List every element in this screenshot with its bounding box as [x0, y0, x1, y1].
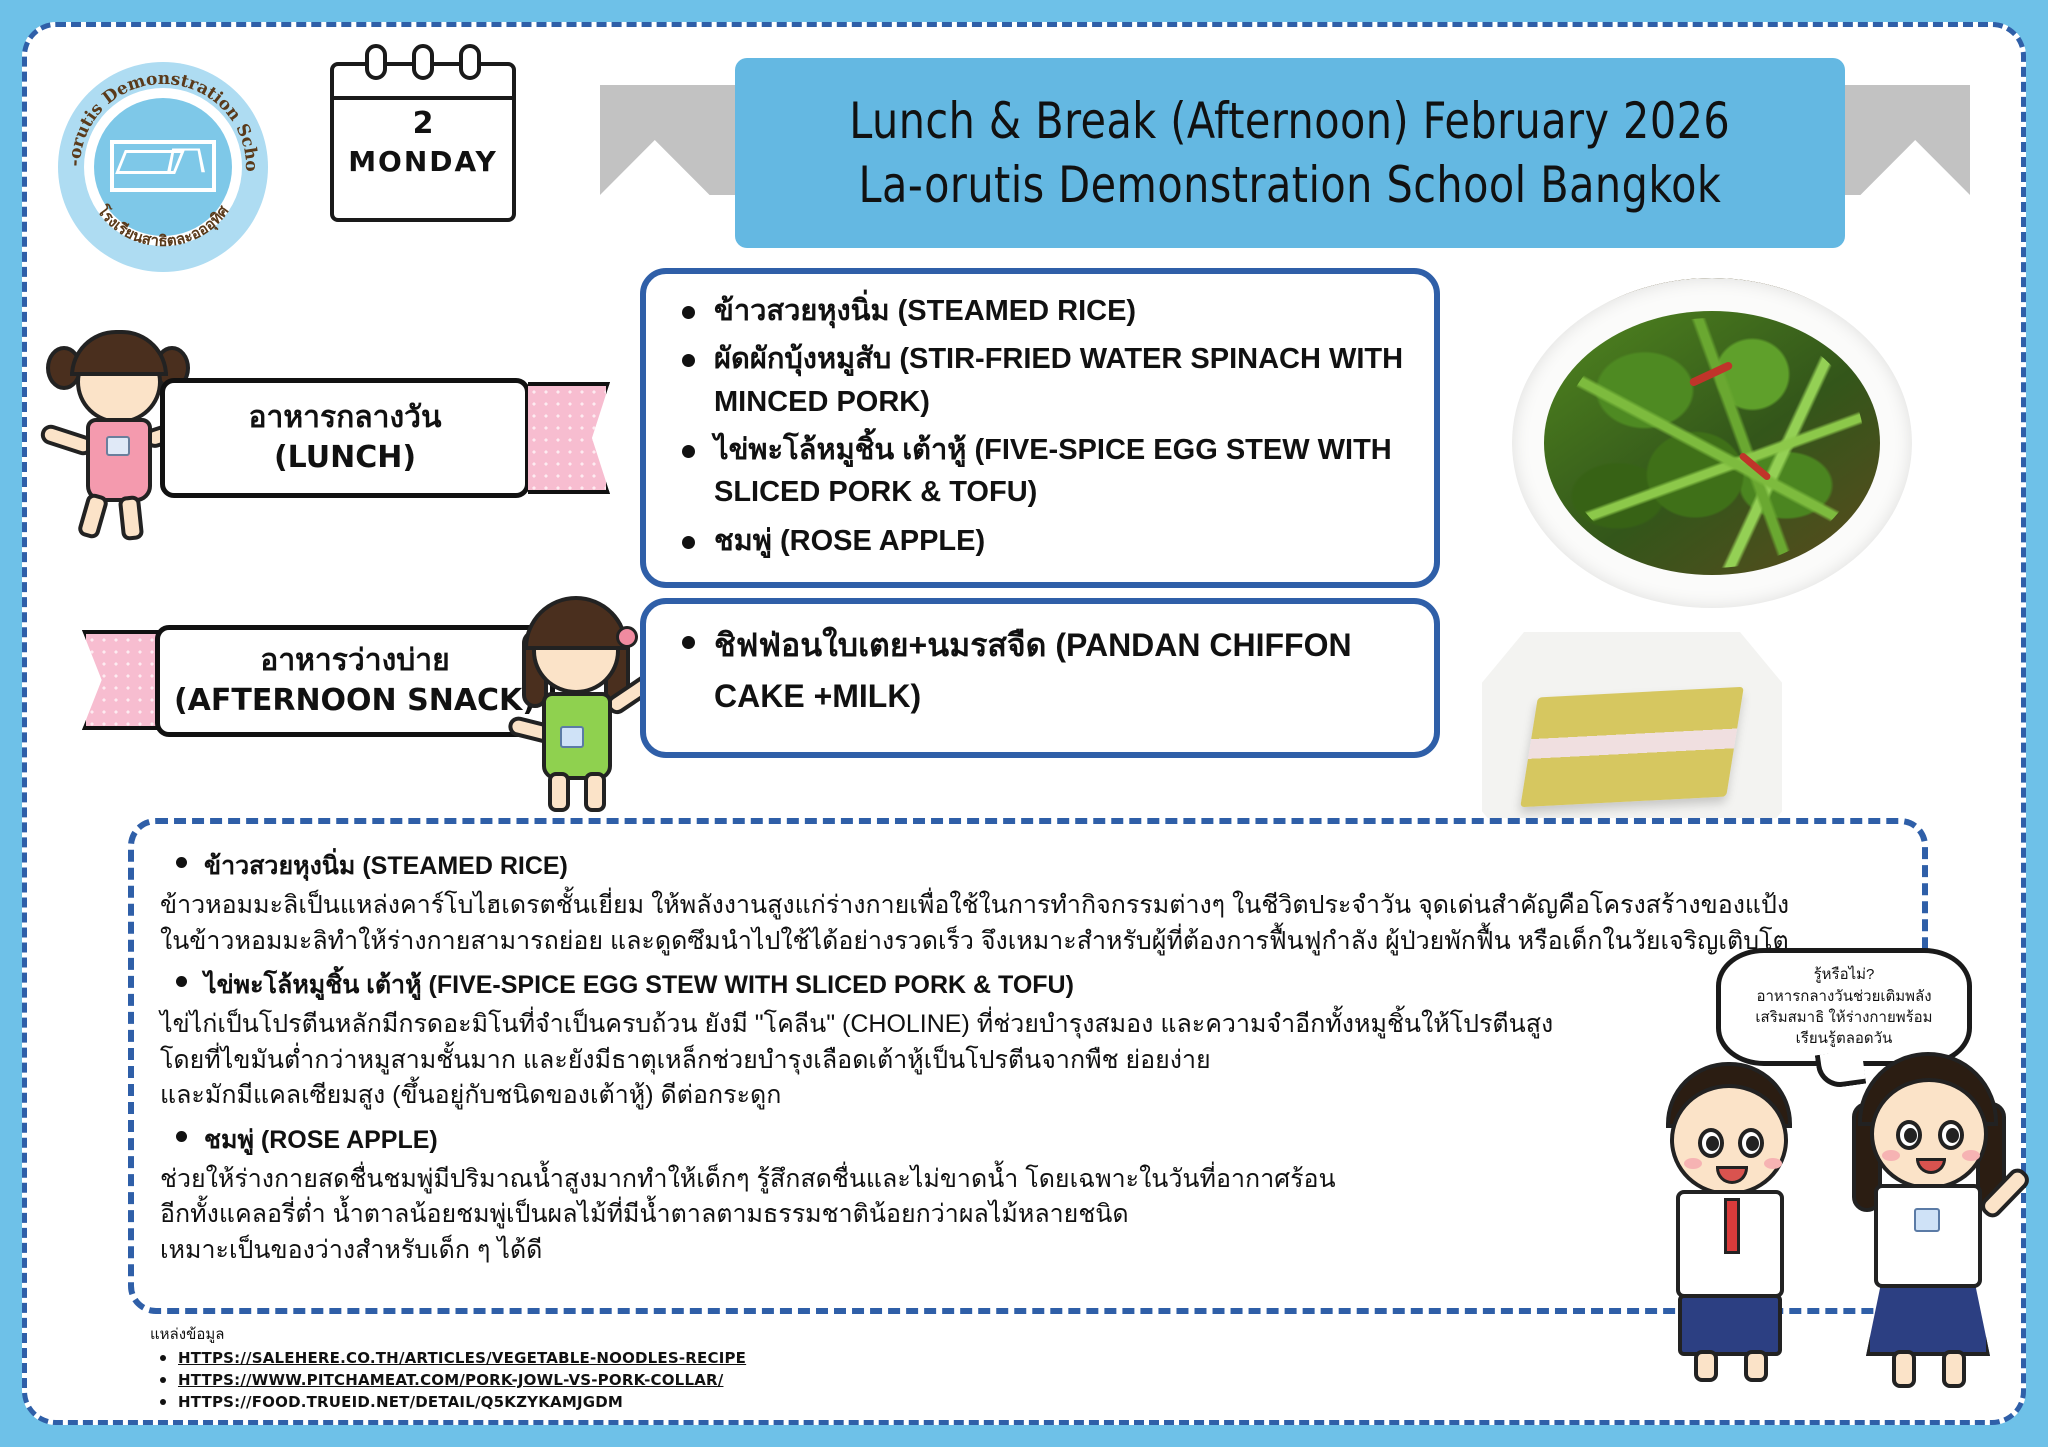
logo-arc-text: La-orutis Demonstration School โรงเรียนส…: [58, 62, 268, 272]
nutrition-heading: ไข่พะโล้หมูชิ้น เต้าหู้ (FIVE-SPICE EGG …: [160, 965, 1896, 1005]
character-pupil-left: [1706, 1136, 1719, 1151]
character-leg-left: [1892, 1350, 1916, 1388]
character-blouse: [1874, 1184, 1982, 1288]
character-shorts: [1678, 1294, 1782, 1356]
lunch-menu-item: ไข่พะโล้หมูชิ้น เต้าหู้ (FIVE-SPICE EGG …: [674, 429, 1406, 514]
sources-section: แหล่งข้อมูล HTTPS://SALEHERE.CO.TH/ARTIC…: [150, 1322, 910, 1415]
snack-label-english: (AFTERNOON SNACK): [174, 681, 536, 722]
source-link-item[interactable]: HTTPS://FOOD.TRUEID.NET/DETAIL/Q5KZYKAMJ…: [150, 1393, 910, 1411]
lunch-menu-item: ผัดผักบุ้งหมูสับ (STIR-FRIED WATER SPINA…: [674, 338, 1406, 423]
lunch-menu-list: ข้าวสวยหุงนิ่ม (STEAMED RICE) ผัดผักบุ้ง…: [674, 290, 1406, 562]
character-hair: [70, 330, 168, 376]
source-link-text[interactable]: HTTPS://FOOD.TRUEID.NET/DETAIL/Q5KZYKAMJ…: [178, 1393, 623, 1411]
hair-bow: [616, 626, 638, 648]
character-necktie: [1724, 1198, 1740, 1254]
nutrition-line: ในข้าวหอมมะลิทำให้ร่างกายสามารถย่อย และด…: [160, 924, 1896, 960]
svg-text:La-orutis Demonstration School: La-orutis Demonstration School: [58, 62, 261, 172]
speech-bubble: รู้หรือไม่? อาหารกลางวันช่วยเติมพลัง เสร…: [1716, 948, 1972, 1066]
calendar-rings: [334, 44, 512, 80]
character-uniform-badge: [560, 726, 584, 748]
speech-bubble-line: เรียนรู้ตลอดวัน: [1796, 1028, 1893, 1049]
character-leg-right: [584, 772, 606, 812]
character-leg-right: [1942, 1350, 1966, 1388]
speech-bubble-line: รู้หรือไม่?: [1814, 964, 1875, 985]
character-uniform-badge: [106, 436, 130, 456]
lunch-menu-item: ชมพู่ (ROSE APPLE): [674, 520, 1406, 562]
lunch-menu-box: ข้าวสวยหุงนิ่ม (STEAMED RICE) ผัดผักบุ้ง…: [640, 268, 1440, 588]
lunch-label: อาหารกลางวัน (LUNCH): [160, 378, 530, 498]
cake-slice: [1520, 687, 1744, 808]
character-leg-left: [1694, 1350, 1718, 1382]
calendar-icon: 2 MONDAY: [330, 62, 516, 222]
character-pupil-right: [1946, 1128, 1959, 1143]
boy-student-character: [1632, 1062, 1832, 1382]
lunch-menu-item: ข้าวสวยหุงนิ่ม (STEAMED RICE): [674, 290, 1406, 332]
character-skirt: [1866, 1284, 1990, 1356]
calendar-day-name: MONDAY: [334, 145, 512, 178]
vegetable-stems: [1560, 318, 1864, 569]
character-cheek-left: [1882, 1150, 1900, 1161]
calendar-ring: [365, 44, 387, 80]
character-cheek-left: [1684, 1158, 1702, 1169]
school-logo: La-orutis Demonstration School โรงเรียนส…: [58, 62, 268, 272]
speech-bubble-line: อาหารกลางวันช่วยเติมพลัง: [1756, 986, 1931, 1007]
header-title-line1: Lunch & Break (Afternoon) February 2026: [850, 89, 1731, 153]
character-cheek-right: [1764, 1158, 1782, 1169]
header-title-line2: La-orutis Demonstration School Bangkok: [859, 153, 1722, 217]
header-banner: Lunch & Break (Afternoon) February 2026 …: [735, 58, 1845, 248]
character-leg-left: [548, 772, 570, 812]
nutrition-heading: ข้าวสวยหุงนิ่ม (STEAMED RICE): [160, 846, 1896, 886]
snack-label: อาหารว่างบ่าย (AFTERNOON SNACK): [155, 625, 555, 737]
poster-root: La-orutis Demonstration School โรงเรียนส…: [0, 0, 2048, 1447]
nutrition-line: ไข่ไก่เป็นโปรตีนหลักมีกรดอะมิโนที่จำเป็น…: [160, 1007, 1896, 1043]
character-leg-right: [118, 495, 144, 541]
lunch-label-thai: อาหารกลางวัน: [249, 398, 442, 439]
source-link-item[interactable]: HTTPS://WWW.PITCHAMEAT.COM/PORK-JOWL-VS-…: [150, 1371, 910, 1389]
character-leg-left: [76, 492, 109, 540]
nutrition-line: ข้าวหอมมะลิเป็นแหล่งคาร์โบไฮเดรตชั้นเยี่…: [160, 888, 1896, 924]
character-hair: [524, 596, 628, 650]
stir-fried-water-spinach-photo: [1512, 278, 1912, 608]
calendar-ring: [459, 44, 481, 80]
nutrition-body: ข้าวหอมมะลิเป็นแหล่งคาร์โบไฮเดรตชั้นเยี่…: [160, 888, 1896, 959]
character-cheek-right: [1962, 1150, 1980, 1161]
snack-label-thai: อาหารว่างบ่าย: [260, 641, 449, 682]
character-leg-right: [1744, 1350, 1768, 1382]
snack-menu-list: ชิฟฟ่อนใบเตย+นมรสจืด (PANDAN CHIFFON CAK…: [674, 620, 1406, 722]
calendar-ring: [412, 44, 434, 80]
source-link-item[interactable]: HTTPS://SALEHERE.CO.TH/ARTICLES/VEGETABL…: [150, 1349, 910, 1367]
source-link-text[interactable]: HTTPS://WWW.PITCHAMEAT.COM/PORK-JOWL-VS-…: [178, 1371, 723, 1389]
calendar-day-number: 2: [334, 106, 512, 141]
logo-text-th: โรงเรียนสาธิตละอออุทิศ: [93, 201, 232, 250]
character-uniform-badge: [1914, 1208, 1940, 1232]
sources-title: แหล่งข้อมูล: [150, 1322, 910, 1346]
character-pupil-right: [1746, 1136, 1759, 1151]
svg-text:โรงเรียนสาธิตละอออุทิศ: โรงเรียนสาธิตละอออุทิศ: [93, 201, 232, 250]
sources-list: HTTPS://SALEHERE.CO.TH/ARTICLES/VEGETABL…: [150, 1349, 910, 1411]
girl-student-character: [1836, 1052, 2036, 1392]
snack-menu-box: ชิฟฟ่อนใบเตย+นมรสจืด (PANDAN CHIFFON CAK…: [640, 598, 1440, 758]
snack-menu-item: ชิฟฟ่อนใบเตย+นมรสจืด (PANDAN CHIFFON CAK…: [674, 620, 1406, 722]
logo-text-en: La-orutis Demonstration School: [58, 62, 261, 172]
character-dress: [86, 418, 152, 502]
character-pupil-left: [1904, 1128, 1917, 1143]
speech-bubble-line: เสริมสมาธิ ให้ร่างกายพร้อม: [1755, 1007, 1932, 1028]
source-link-text[interactable]: HTTPS://SALEHERE.CO.TH/ARTICLES/VEGETABL…: [178, 1349, 746, 1367]
lunch-label-english: (LUNCH): [274, 438, 416, 479]
